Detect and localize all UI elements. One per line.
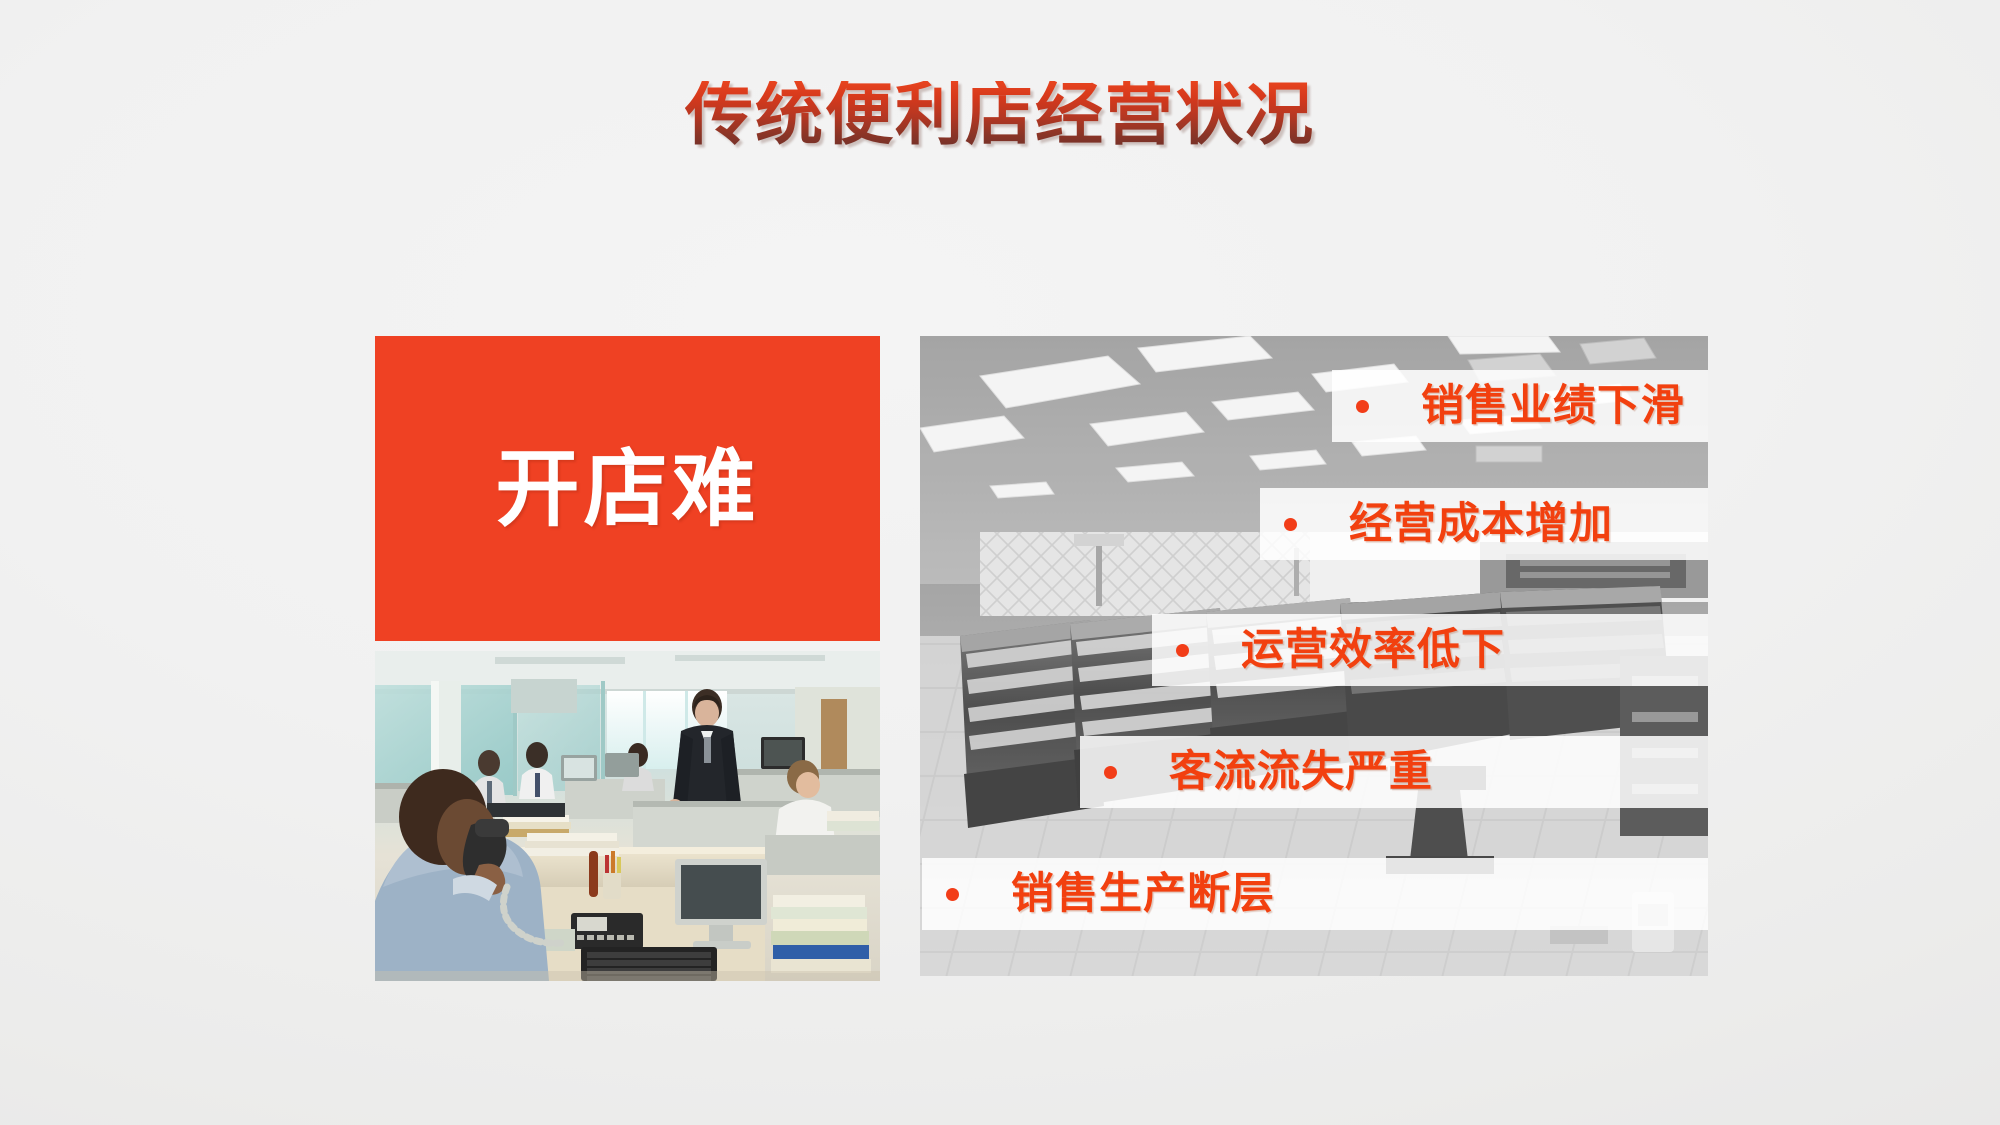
list-item[interactable]: 经营成本增加 bbox=[1260, 488, 1708, 560]
list-item-label: 运营效率低下 bbox=[1241, 629, 1505, 672]
left-column: 开店难 bbox=[375, 336, 880, 981]
slide-root: 传统便利店经营状况 开店难 bbox=[0, 0, 2000, 1125]
list-item[interactable]: 客流流失严重 bbox=[1080, 736, 1708, 808]
bullet-list: 销售业绩下滑 经营成本增加 运营效率低下 客流流失严重 销售生产断层 bbox=[920, 336, 1708, 976]
bullet-dot-icon bbox=[1356, 400, 1369, 413]
page-title: 传统便利店经营状况 bbox=[685, 81, 1315, 149]
bullet-dot-icon bbox=[946, 888, 959, 901]
convenience-store-interior-photo: 销售业绩下滑 经营成本增加 运营效率低下 客流流失严重 销售生产断层 bbox=[920, 336, 1708, 976]
list-item[interactable]: 运营效率低下 bbox=[1152, 614, 1708, 686]
list-item[interactable]: 销售生产断层 bbox=[922, 858, 1708, 930]
bullet-dot-icon bbox=[1176, 644, 1189, 657]
bullet-dot-icon bbox=[1284, 518, 1297, 531]
title-container: 传统便利店经营状况 bbox=[0, 0, 2000, 230]
list-item-label: 客流流失严重 bbox=[1169, 751, 1433, 794]
list-item-label: 销售业绩下滑 bbox=[1421, 385, 1685, 428]
office-workplace-photo bbox=[375, 651, 880, 981]
highlight-card-open-store: 开店难 bbox=[375, 336, 880, 641]
list-item-label: 经营成本增加 bbox=[1349, 503, 1613, 546]
list-item-label: 销售生产断层 bbox=[1011, 873, 1275, 916]
bullet-dot-icon bbox=[1104, 766, 1117, 779]
list-item[interactable]: 销售业绩下滑 bbox=[1332, 370, 1708, 442]
highlight-card-label: 开店难 bbox=[495, 447, 759, 531]
